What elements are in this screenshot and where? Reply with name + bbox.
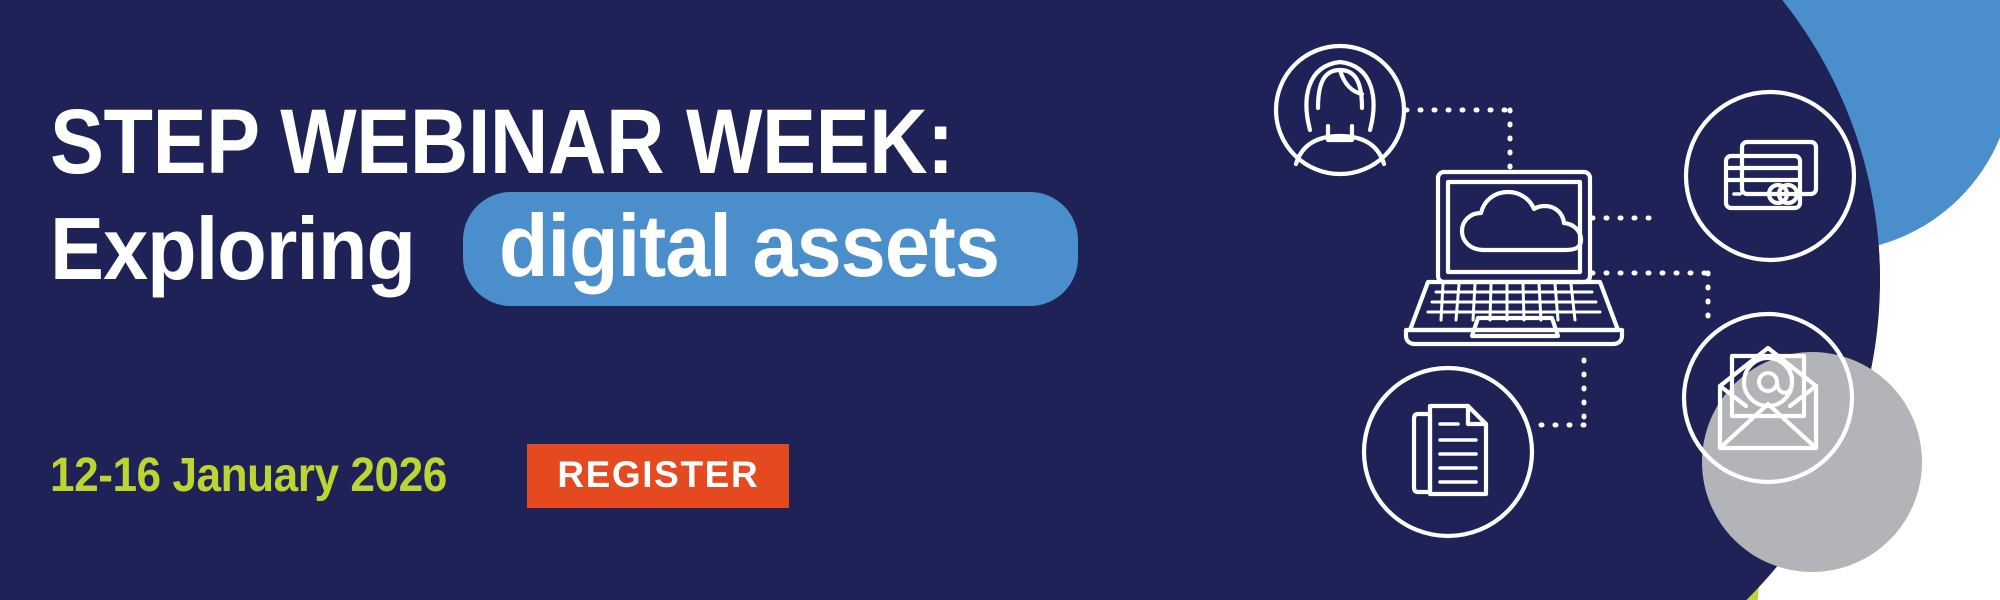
page-title-line-2: Exploring digital assets xyxy=(50,192,1078,306)
credit-cards-icon xyxy=(1686,92,1854,260)
email-at-envelope-icon xyxy=(1684,314,1852,482)
illustration-artwork xyxy=(1240,0,2000,600)
page-title-line-2-plain: Exploring xyxy=(50,201,415,297)
register-button[interactable]: REGISTER xyxy=(527,444,789,508)
person-avatar-icon xyxy=(1276,46,1404,174)
documents-icon xyxy=(1364,368,1532,536)
event-date-and-cta-row: 12-16 January 2026 REGISTER xyxy=(50,444,789,508)
highlight-pill-label: digital assets xyxy=(499,201,999,291)
event-dates: 12-16 January 2026 xyxy=(50,444,447,508)
laptop-cloud-icon xyxy=(1406,172,1622,344)
icon-network-svg xyxy=(1240,0,2000,600)
highlight-pill: digital assets xyxy=(463,192,1079,306)
webinar-promo-banner: STEP WEBINAR WEEK: Exploring digital ass… xyxy=(0,0,2000,600)
dotted-connector-lines xyxy=(1406,110,1708,425)
banner-copy-block: STEP WEBINAR WEEK: Exploring digital ass… xyxy=(0,0,1120,600)
page-title-line-1: STEP WEBINAR WEEK: xyxy=(50,96,954,188)
